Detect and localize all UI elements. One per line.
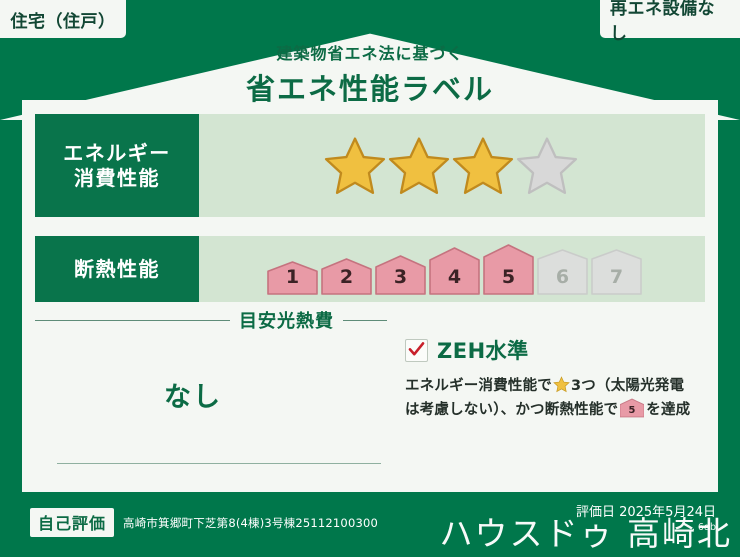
zeh-column: ZEH水準 エネルギー消費性能で3つ（太陽光発電 は考慮しない）、かつ断熱性能で… (387, 305, 705, 485)
company-watermark: ハウスドゥ 高崎北 (440, 507, 733, 555)
checkmark-icon (407, 340, 426, 359)
utility-cost-column: 目安光熱費 なし (35, 305, 387, 485)
row-energy-performance: エネルギー 消費性能 (35, 114, 705, 217)
energy-label-line2: 消費性能 (74, 166, 160, 190)
zeh-description: エネルギー消費性能で3つ（太陽光発電 は考慮しない）、かつ断熱性能で5を達成 (405, 375, 705, 427)
zeh-desc-part1: エネルギー消費性能で (405, 378, 552, 394)
insulation-level-scale: 1234567 (267, 244, 642, 295)
zeh-title: ZEH水準 (437, 335, 529, 365)
zeh-desc-part3: を達成 (646, 402, 690, 418)
house-filled-icon (375, 255, 426, 295)
zeh-desc-level-badge: 5 (620, 398, 644, 426)
self-evaluation-badge: 自己評価 (30, 508, 114, 537)
house-badge-icon: 5 (620, 398, 644, 418)
house-filled-icon (321, 258, 372, 295)
lower-section: 目安光熱費 なし ZEH水準 エネルギー消費性能で3つ（太陽光発電 は考慮しない… (35, 305, 705, 485)
energy-performance-label-box: エネルギー 消費性能 (35, 114, 199, 217)
zeh-desc-stars: 3つ（太陽光発電 (571, 378, 684, 394)
insulation-level-1: 1 (267, 261, 318, 295)
energy-label-line1: エネルギー (63, 141, 171, 165)
heading-rule-left (35, 320, 230, 321)
label-footer: 自己評価 高崎市箕郷町下芝第8(4棟)3号棟25112100300 評価日 20… (0, 492, 740, 557)
house-empty-icon (591, 249, 642, 295)
property-address: 高崎市箕郷町下芝第8(4棟)3号棟25112100300 (123, 515, 378, 531)
insulation-performance-label-box: 断熱性能 (35, 236, 199, 302)
insulation-performance-value: 1234567 (199, 236, 705, 302)
svg-text:5: 5 (629, 406, 636, 417)
utility-cost-bottom-rule (57, 463, 381, 464)
utility-cost-value: なし (35, 375, 387, 414)
tag-renewable-equipment: 再エネ設備なし (600, 0, 740, 38)
insulation-label: 断熱性能 (74, 257, 160, 281)
row-insulation-performance: 断熱性能 1234567 (35, 236, 705, 302)
star-rating (324, 135, 578, 197)
utility-cost-heading-row: 目安光熱費 (35, 305, 387, 333)
insulation-level-2: 2 (321, 258, 372, 295)
zeh-heading-row: ZEH水準 (405, 335, 705, 365)
zeh-desc-part2: は考慮しない）、かつ断熱性能で (405, 402, 618, 418)
energy-performance-label: 住宅（住戸） 再エネ設備なし 建築物省エネ法に基づく 省エネ性能ラベル エネルギ… (0, 0, 740, 557)
zeh-checkbox[interactable] (405, 339, 428, 362)
insulation-level-4: 4 (429, 247, 480, 295)
heading-rule-right (343, 320, 387, 321)
utility-cost-heading: 目安光熱費 (239, 307, 334, 333)
house-filled-icon (267, 261, 318, 295)
star-filled-icon (324, 135, 386, 197)
house-filled-icon (429, 247, 480, 295)
star-filled-icon (452, 135, 514, 197)
footer-left-group: 自己評価 高崎市箕郷町下芝第8(4棟)3号棟25112100300 (30, 508, 378, 537)
insulation-level-5: 5 (483, 244, 534, 295)
house-empty-icon (537, 249, 588, 295)
star-empty-icon (516, 135, 578, 197)
title-main: 省エネ性能ラベル (0, 66, 740, 108)
insulation-level-3: 3 (375, 255, 426, 295)
energy-performance-value (199, 114, 705, 217)
insulation-level-7: 7 (591, 249, 642, 295)
label-title: 建築物省エネ法に基づく 省エネ性能ラベル (0, 40, 740, 108)
insulation-level-6: 6 (537, 249, 588, 295)
star-filled-icon (388, 135, 450, 197)
house-filled-icon (483, 244, 534, 295)
star-icon (553, 376, 570, 393)
tag-building-type: 住宅（住戸） (0, 0, 126, 38)
